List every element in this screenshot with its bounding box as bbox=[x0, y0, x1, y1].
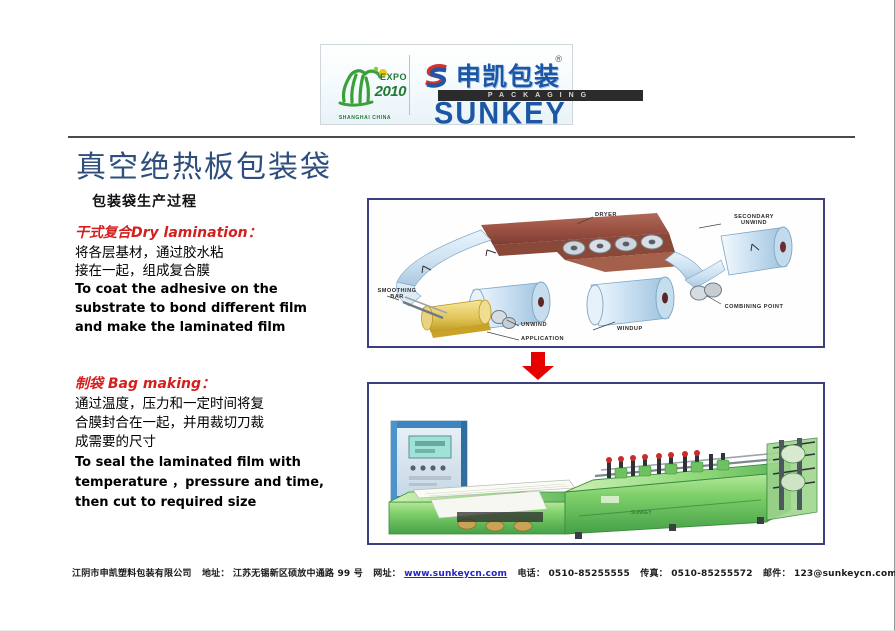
bag-making-english-line-3: then cut to required size bbox=[75, 493, 365, 512]
registered-mark-icon: ® bbox=[555, 54, 562, 64]
footer-address: 江苏无锡新区硕放中通路 99 号 bbox=[233, 569, 363, 579]
label-windup: WINDUP bbox=[617, 326, 643, 332]
label-secondary-unwind: SECONDARY UNWIND bbox=[724, 214, 784, 226]
text-block-bag-making: 制袋 Bag making： 通过温度，压力和一定时间将复 合膜封合在一起，并用… bbox=[75, 373, 365, 512]
dry-lamination-english-line-2: substrate to bond different film bbox=[75, 300, 365, 318]
bag-making-chinese-line-2: 合膜封合在一起，并用裁切刀裁 bbox=[75, 414, 365, 433]
figure-bag-making-machine: SUNKEY bbox=[367, 382, 825, 545]
bag-making-heading: 制袋 Bag making： bbox=[75, 373, 365, 393]
dry-lamination-heading: 干式复合Dry lamination： bbox=[75, 222, 365, 242]
footer-website-link[interactable]: www.sunkeycn.com bbox=[404, 569, 507, 579]
sunkey-logo: 申凯包装 ® PACKAGING SUNKEY bbox=[416, 45, 572, 124]
dry-lamination-chinese-line-1: 将各层基材，通过胶水粘 bbox=[75, 244, 365, 262]
expo-2010-logo: EXPO 2010 SHANGHAI CHINA bbox=[321, 45, 409, 124]
bag-making-chinese-line-3: 成需要的尺寸 bbox=[75, 433, 365, 452]
bag-machine-svg: SUNKEY bbox=[369, 384, 823, 543]
footer-company: 江阴市申凯塑料包装有限公司 bbox=[72, 569, 192, 579]
footer-email-label: 邮件： bbox=[763, 569, 791, 579]
bag-making-english-line-2: temperature ，pressure and time, bbox=[75, 473, 365, 492]
label-application: APPLICATION bbox=[521, 336, 564, 342]
down-arrow-icon bbox=[521, 352, 555, 380]
dry-lamination-english-line-3: and make the laminated film bbox=[75, 319, 365, 337]
sunkey-s-mark-icon bbox=[422, 62, 450, 90]
bag-making-chinese-line-1: 通过温度，压力和一定时间将复 bbox=[75, 395, 365, 414]
footer-contact-bar: 江阴市申凯塑料包装有限公司 地址： 江苏无锡新区硕放中通路 99 号 网址： w… bbox=[72, 566, 895, 579]
section-subtitle: 包装袋生产过程 bbox=[92, 191, 197, 211]
header-divider-rule bbox=[68, 136, 855, 138]
company-logo-banner: EXPO 2010 SHANGHAI CHINA 申凯包装 ® PACKAGIN… bbox=[320, 44, 573, 125]
label-combining-point: COMBINING POINT bbox=[724, 304, 784, 310]
footer-email: 123@sunkeycn.com bbox=[794, 569, 895, 579]
logo-divider bbox=[409, 55, 410, 115]
footer-fax-label: 传真： bbox=[640, 569, 668, 579]
expo-city-label: SHANGHAI CHINA bbox=[339, 115, 391, 121]
page-title: 真空绝热板包装袋 bbox=[76, 142, 332, 186]
figure-dry-lamination-diagram: DRYER SECONDARY UNWIND COMBINING POINT S… bbox=[367, 198, 825, 348]
sunkey-chinese-name: 申凯包装 bbox=[456, 57, 560, 93]
sunkey-brand-wordmark: SUNKEY bbox=[434, 97, 567, 133]
footer-fax: 0510-85255572 bbox=[671, 569, 752, 579]
svg-text:SUNKEY: SUNKEY bbox=[631, 510, 652, 516]
footer-phone: 0510-85255555 bbox=[548, 569, 629, 579]
label-smoothing-bar: SMOOTHING BAR bbox=[373, 288, 421, 300]
dry-lamination-chinese-line-2: 接在一起，组成复合膜 bbox=[75, 262, 365, 280]
expo-word-label: EXPO bbox=[380, 72, 407, 82]
label-dryer: DRYER bbox=[595, 212, 617, 218]
label-unwind: UNWIND bbox=[521, 322, 547, 328]
dry-lamination-english-line-1: To coat the adhesive on the bbox=[75, 281, 365, 299]
footer-address-label: 地址： bbox=[202, 569, 230, 579]
text-block-dry-lamination: 干式复合Dry lamination： 将各层基材，通过胶水粘 接在一起，组成复… bbox=[75, 222, 365, 337]
slide-canvas: EXPO 2010 SHANGHAI CHINA 申凯包装 ® PACKAGIN… bbox=[0, 0, 895, 631]
bag-making-english-line-1: To seal the laminated film with bbox=[75, 453, 365, 472]
expo-year-label: 2010 bbox=[375, 83, 406, 100]
footer-website-label: 网址： bbox=[373, 569, 401, 579]
footer-phone-label: 电话： bbox=[517, 569, 545, 579]
